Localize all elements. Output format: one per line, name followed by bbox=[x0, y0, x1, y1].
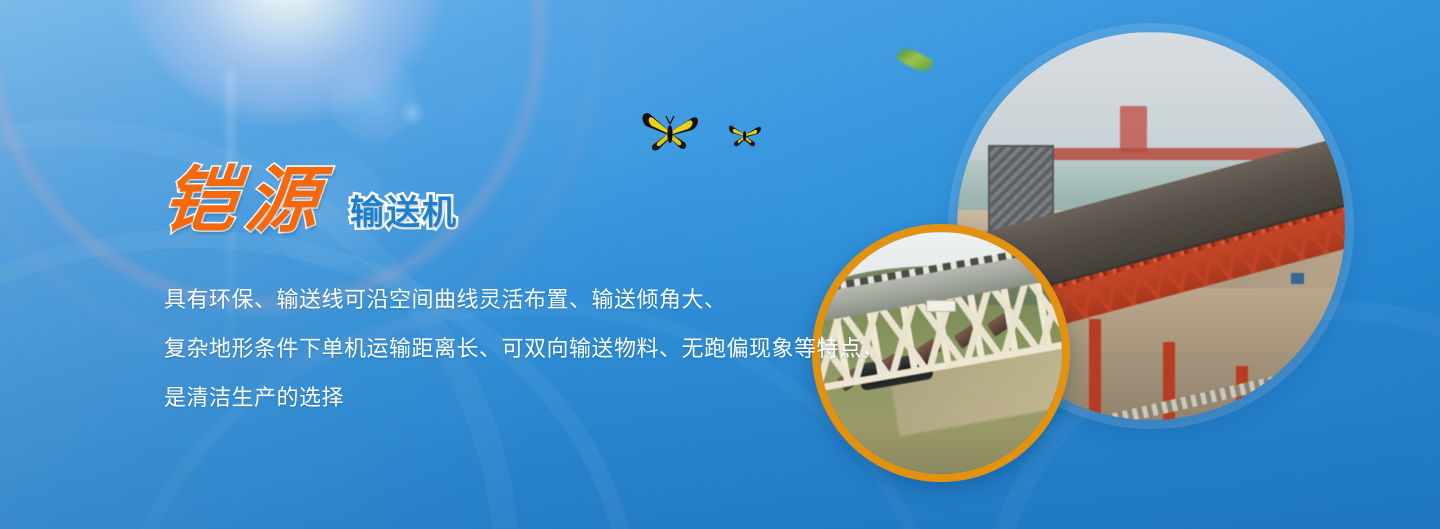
description-line-1: 具有环保、输送线可沿空间曲线灵活布置、输送倾角大、 bbox=[164, 276, 864, 325]
description-line-3: 是清洁生产的选择 bbox=[164, 374, 864, 423]
brand-name: 铠源 bbox=[160, 164, 332, 236]
lens-flare-dot-icon bbox=[400, 100, 426, 126]
description-line-2: 复杂地形条件下单机运输距离长、可双向输送物料、无跑偏现象等特点， bbox=[164, 325, 864, 374]
hero-text-block: 铠源 输送机 具有环保、输送线可沿空间曲线灵活布置、输送倾角大、 复杂地形条件下… bbox=[164, 140, 864, 423]
brand-subtitle: 输送机 bbox=[350, 196, 458, 236]
lens-flare-dot-icon bbox=[330, 56, 416, 142]
brand-row: 铠源 输送机 bbox=[164, 140, 864, 236]
description-block: 具有环保、输送线可沿空间曲线灵活布置、输送倾角大、 复杂地形条件下单机运输距离长… bbox=[164, 276, 864, 423]
hero-banner: 铠源 输送机 具有环保、输送线可沿空间曲线灵活布置、输送倾角大、 复杂地形条件下… bbox=[0, 0, 1440, 529]
